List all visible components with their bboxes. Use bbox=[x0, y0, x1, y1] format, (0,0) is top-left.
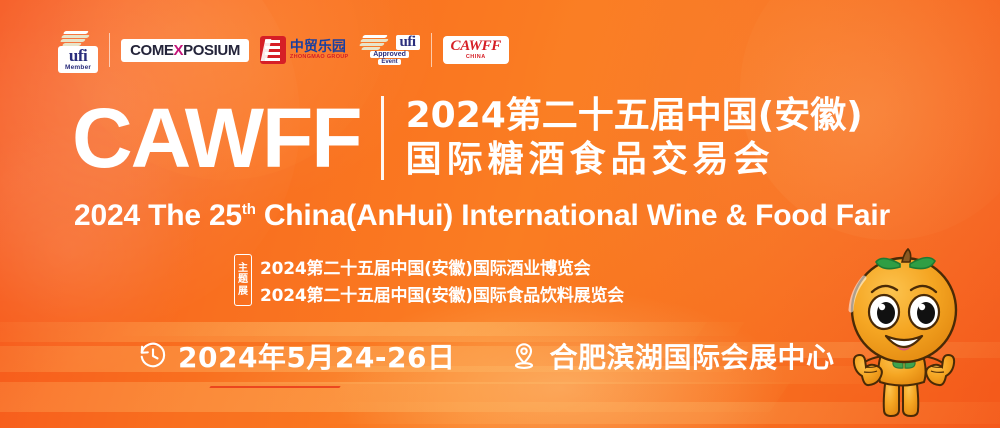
zhongmao-name-cn: 中贸乐园 bbox=[290, 39, 349, 53]
zhongmao-text: 中贸乐园 ZHONGMAO GROUP bbox=[290, 39, 349, 61]
event-meta-row: 2024年5月24-26日 合肥滨湖国际会展中心 bbox=[138, 336, 834, 376]
chinese-title-line2: 国际糖酒食品交易会 bbox=[406, 140, 863, 180]
partner-logo-comexposium: COMEXPOSIUM bbox=[121, 39, 249, 62]
english-subtitle-prefix: 2024 The 25 bbox=[74, 199, 242, 232]
ufi-approved-label: Approved bbox=[370, 51, 409, 58]
partner-logo-cawff: CAWFF CHINA bbox=[443, 36, 509, 64]
ufi-member-badge: ufi Member bbox=[58, 46, 98, 74]
event-venue: 合肥滨湖国际会展中心 bbox=[509, 336, 834, 376]
ufi-approved-logo-text: ufi bbox=[400, 35, 416, 51]
ufi-member-label: Member bbox=[65, 65, 91, 72]
hero-title-block: CAWFF 2024第二十五届中国(安徽) 国际糖酒食品交易会 bbox=[72, 96, 863, 180]
partner-logo-strip: ufi Member COMEXPOSIUM 中贸乐园 ZHONGMAO GRO… bbox=[58, 26, 509, 74]
logo-divider bbox=[431, 33, 432, 67]
stage-slab bbox=[0, 382, 790, 412]
comexposium-wordmark: COMEXPOSIUM bbox=[130, 43, 240, 58]
english-subtitle: 2024 The 25th China(AnHui) International… bbox=[74, 199, 890, 233]
event-date: 2024年5月24-26日 bbox=[138, 336, 455, 376]
ufi-wing-icon bbox=[61, 31, 95, 46]
orange-mascot bbox=[814, 248, 994, 428]
title-divider bbox=[381, 96, 384, 180]
zhongmao-mark-icon bbox=[260, 36, 286, 64]
stage-red-line bbox=[209, 386, 340, 388]
chinese-title: 2024第二十五届中国(安徽) 国际糖酒食品交易会 bbox=[406, 96, 863, 179]
ufi-event-label: Event bbox=[378, 59, 400, 65]
partner-logo-ufi-member: ufi Member bbox=[58, 27, 98, 73]
ufi-approved-badge: ufi bbox=[396, 35, 420, 51]
partner-logo-zhongmao-group: 中贸乐园 ZHONGMAO GROUP bbox=[260, 36, 349, 64]
theme-exhibition-item: 2024第二十五届中国(安徽)国际酒业博览会 bbox=[260, 254, 624, 279]
english-subtitle-ordinal: th bbox=[242, 201, 256, 218]
ufi-approved-wing-icon bbox=[360, 35, 394, 50]
stage-slab bbox=[115, 322, 744, 336]
theme-exhibitions: 主 题 展 2024第二十五届中国(安徽)国际酒业博览会 2024第二十五届中国… bbox=[234, 254, 624, 306]
ufi-logo-text: ufi bbox=[65, 47, 91, 64]
partner-logo-ufi-approved-event: ufi Approved Event bbox=[360, 27, 420, 73]
theme-badge-char1: 主 bbox=[238, 263, 248, 274]
theme-badge-char3: 展 bbox=[238, 286, 248, 297]
page-title: CAWFF bbox=[72, 98, 361, 179]
cawff-logo-text: CAWFF bbox=[451, 39, 501, 54]
theme-exhibition-list: 2024第二十五届中国(安徽)国际酒业博览会 2024第二十五届中国(安徽)国际… bbox=[260, 254, 624, 306]
theme-exhibition-badge: 主 题 展 bbox=[234, 254, 252, 306]
logo-divider bbox=[109, 33, 110, 67]
theme-badge-char2: 题 bbox=[238, 274, 248, 285]
zhongmao-name-en: ZHONGMAO GROUP bbox=[290, 55, 349, 61]
english-subtitle-suffix: China(AnHui) International Wine & Food F… bbox=[256, 199, 890, 232]
event-date-text: 2024年5月24-26日 bbox=[178, 336, 455, 376]
theme-exhibition-item: 2024第二十五届中国(安徽)国际食品饮料展览会 bbox=[260, 281, 624, 306]
location-pin-icon bbox=[509, 341, 539, 371]
cawff-logo-sub: CHINA bbox=[451, 55, 501, 61]
chinese-title-line1: 2024第二十五届中国(安徽) bbox=[406, 96, 863, 136]
clock-icon bbox=[138, 341, 168, 371]
event-banner: ufi Member COMEXPOSIUM 中贸乐园 ZHONGMAO GRO… bbox=[0, 0, 1000, 428]
event-venue-text: 合肥滨湖国际会展中心 bbox=[549, 336, 834, 376]
